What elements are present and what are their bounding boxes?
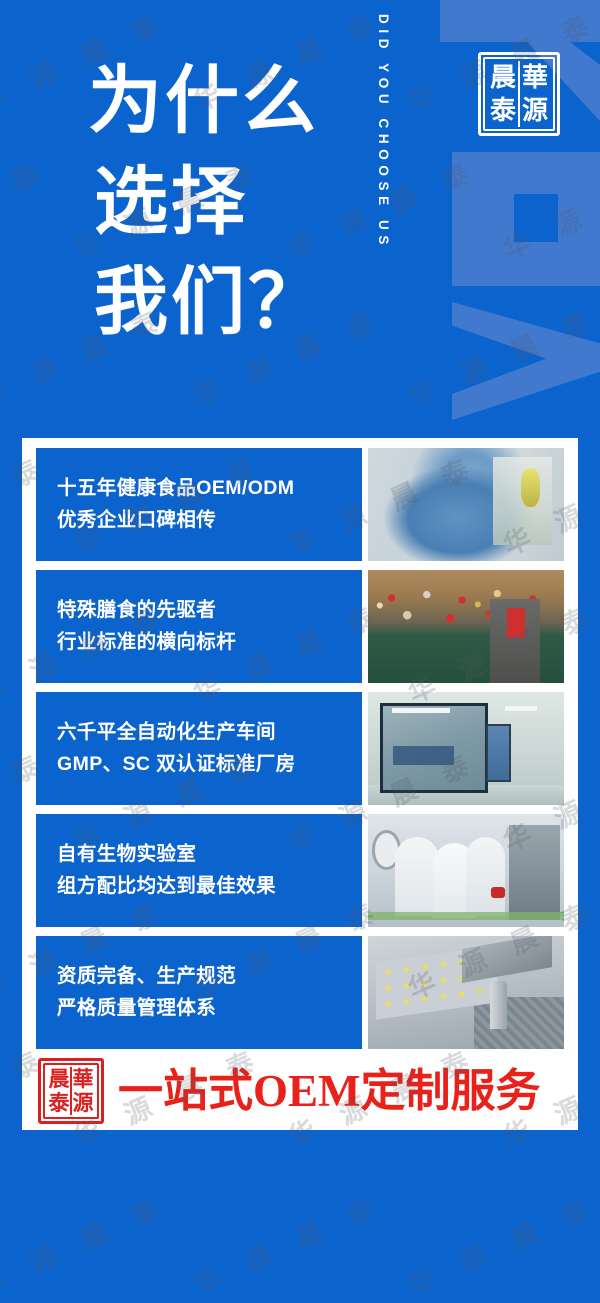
- feature-card-text: 资质完备、生产规范 严格质量管理体系: [36, 936, 362, 1049]
- feature-card-line-2: 组方配比均达到最佳效果: [57, 871, 362, 903]
- watermark-text: 华 源 晨 泰: [401, 1184, 600, 1303]
- feature-card-text: 特殊膳食的先驱者 行业标准的横向标杆: [36, 570, 362, 683]
- seal-glyph-2: 華: [519, 61, 551, 94]
- footer-seal-logo: 晨 華 泰 源: [38, 1058, 104, 1124]
- feature-card[interactable]: 资质完备、生产规范 严格质量管理体系: [36, 936, 564, 1049]
- seal-glyph-3: 泰: [487, 94, 519, 127]
- seal-glyph-1: 晨: [47, 1067, 71, 1091]
- feature-card[interactable]: 十五年健康食品OEM/ODM 优秀企业口碑相传: [36, 448, 564, 561]
- feature-card-line-1: 特殊膳食的先驱者: [57, 595, 362, 627]
- feature-card-line-1: 自有生物实验室: [57, 839, 362, 871]
- seal-glyph-4: 源: [71, 1091, 95, 1115]
- footer-banner: 晨 華 泰 源 一站式OEM定制服务: [22, 1052, 578, 1130]
- page-title-line-2: 选择: [94, 153, 325, 254]
- watermark-text: 华 源 晨 泰: [186, 1184, 389, 1303]
- feature-card-line-1: 六千平全自动化生产车间: [57, 717, 362, 749]
- page-title-line-3: 我们？: [94, 253, 325, 354]
- feature-card-list: 十五年健康食品OEM/ODM 优秀企业口碑相传 特殊膳食的先驱者 行业标准的横向…: [36, 448, 564, 1058]
- feature-card-text: 十五年健康食品OEM/ODM 优秀企业口碑相传: [36, 448, 362, 561]
- feature-card[interactable]: 特殊膳食的先驱者 行业标准的横向标杆: [36, 570, 564, 683]
- feature-card-line-2: 行业标准的横向标杆: [57, 627, 362, 659]
- seal-glyph-2: 華: [71, 1067, 95, 1091]
- seal-glyph-4: 源: [519, 94, 551, 127]
- production-line-staff-photo: [368, 814, 564, 927]
- hero-section: DID YOU CHOOSE US 为什么 选择 我们？ 晨 華 泰 源: [0, 0, 600, 438]
- tablet-press-photo: [368, 936, 564, 1049]
- feature-card-line-2: 严格质量管理体系: [57, 993, 362, 1025]
- vertical-tagline: DID YOU CHOOSE US: [372, 14, 394, 404]
- features-panel: 十五年健康食品OEM/ODM 优秀企业口碑相传 特殊膳食的先驱者 行业标准的横向…: [22, 438, 578, 1130]
- page-title: 为什么 选择 我们？: [88, 52, 325, 354]
- conference-audience-photo: [368, 570, 564, 683]
- lab-technician-photo: [368, 448, 564, 561]
- feature-card-text: 六千平全自动化生产车间 GMP、SC 双认证标准厂房: [36, 692, 362, 805]
- company-seal-logo: 晨 華 泰 源: [478, 52, 560, 136]
- feature-card[interactable]: 六千平全自动化生产车间 GMP、SC 双认证标准厂房: [36, 692, 564, 805]
- watermark-text: 华 源 晨 泰: [0, 1184, 174, 1303]
- feature-card-line-2: 优秀企业口碑相传: [57, 505, 362, 537]
- page-title-line-1: 为什么: [88, 52, 325, 153]
- seal-glyph-1: 晨: [487, 61, 519, 94]
- footer-headline: 一站式OEM定制服务: [118, 1069, 541, 1114]
- seal-glyph-3: 泰: [47, 1091, 71, 1115]
- feature-card[interactable]: 自有生物实验室 组方配比均达到最佳效果: [36, 814, 564, 927]
- feature-card-text: 自有生物实验室 组方配比均达到最佳效果: [36, 814, 362, 927]
- feature-card-line-1: 十五年健康食品OEM/ODM: [57, 473, 362, 505]
- feature-card-line-2: GMP、SC 双认证标准厂房: [57, 749, 362, 781]
- feature-card-line-1: 资质完备、生产规范: [57, 961, 362, 993]
- cleanroom-corridor-photo: [368, 692, 564, 805]
